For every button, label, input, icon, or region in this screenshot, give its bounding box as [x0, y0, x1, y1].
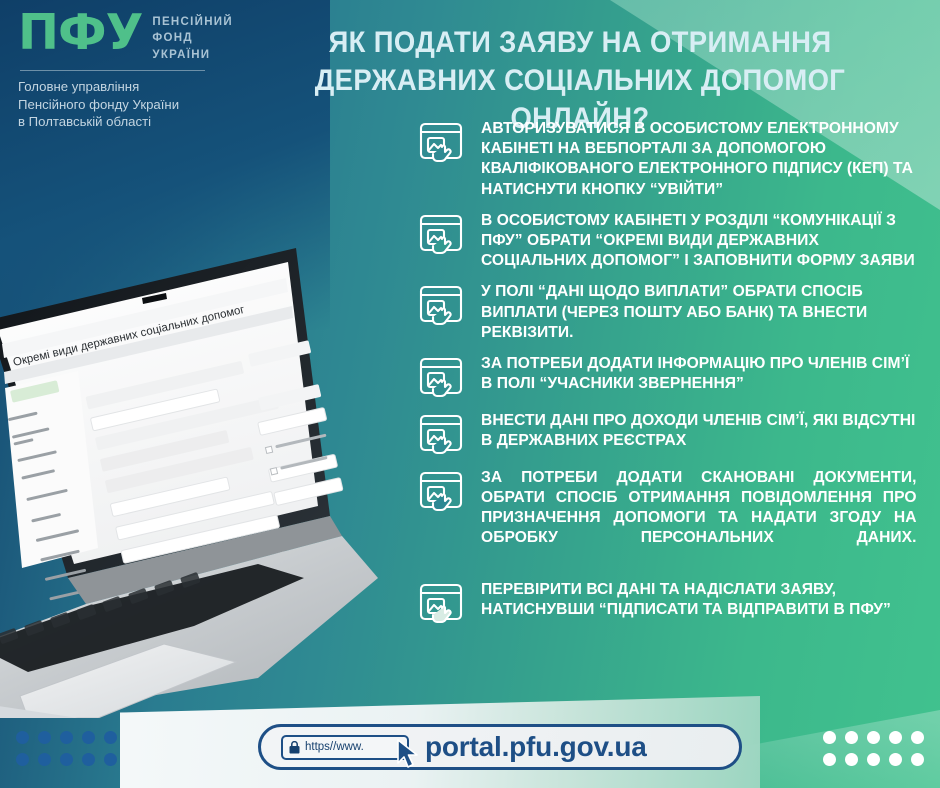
- step-text: ЗА ПОТРЕБИ ДОДАТИ ІНФОРМАЦІЮ ПРО ЧЛЕНІВ …: [481, 353, 917, 399]
- dot: [911, 753, 924, 766]
- dot: [845, 731, 858, 744]
- browser-click-icon: [418, 355, 468, 399]
- dot: [16, 731, 29, 744]
- dot: [911, 731, 924, 744]
- browser-click-icon: [418, 212, 468, 256]
- dot: [823, 731, 836, 744]
- browser-click-icon: [418, 283, 468, 327]
- pfu-logo-words: ПЕНСІЙНИЙ ФОНД УКРАЇНИ: [152, 10, 233, 63]
- portal-url-text[interactable]: portal.pfu.gov.ua: [425, 731, 647, 763]
- dot: [104, 753, 117, 766]
- step-text: АВТОРИЗУВАТИСЯ В ОСОБИСТОМУ ЕЛЕКТРОННОМУ…: [481, 118, 917, 199]
- dot: [823, 753, 836, 766]
- brand-divider: [20, 70, 205, 71]
- dot: [38, 753, 51, 766]
- browser-click-icon: [418, 469, 468, 513]
- dot: [104, 731, 117, 744]
- list-item: ЗА ПОТРЕБИ ДОДАТИ ІНФОРМАЦІЮ ПРО ЧЛЕНІВ …: [418, 353, 930, 399]
- dot: [889, 753, 902, 766]
- brand-word-1: ПЕНСІЙНИЙ: [152, 14, 233, 30]
- browser-click-icon: [418, 412, 468, 456]
- dot: [889, 731, 902, 744]
- address-field-chip[interactable]: https//www.: [281, 735, 409, 760]
- browser-click-icon: [418, 120, 468, 164]
- dot: [38, 731, 51, 744]
- dot: [82, 753, 95, 766]
- browser-click-icon: [418, 581, 468, 625]
- dot: [60, 753, 73, 766]
- list-item: В ОСОБИСТОМУ КАБІНЕТІ У РОЗДІЛІ “КОМУНІК…: [418, 210, 930, 271]
- list-item: ПЕРЕВІРИТИ ВСІ ДАНІ ТА НАДІСЛАТИ ЗАЯВУ, …: [418, 579, 930, 625]
- brand-word-3: УКРАЇНИ: [152, 47, 233, 63]
- step-text: В ОСОБИСТОМУ КАБІНЕТІ У РОЗДІЛІ “КОМУНІК…: [481, 210, 917, 271]
- step-text: ПЕРЕВІРИТИ ВСІ ДАНІ ТА НАДІСЛАТИ ЗАЯВУ, …: [481, 579, 917, 625]
- dot: [867, 731, 880, 744]
- url-bar[interactable]: https//www. portal.pfu.gov.ua: [258, 724, 742, 770]
- step-text: ВНЕСТИ ДАНІ ПРО ДОХОДИ ЧЛЕНІВ СІМ’Ї, ЯКІ…: [481, 410, 917, 456]
- list-item: У ПОЛІ “ДАНІ ЩОДО ВИПЛАТИ” ОБРАТИ СПОСІБ…: [418, 281, 930, 342]
- lock-icon: [289, 741, 300, 754]
- decor-dots-right: [823, 731, 924, 766]
- laptop-illustration: Окремі види державних соціальних допомог: [0, 248, 378, 718]
- headline-line-1: ЯК ПОДАТИ ЗАЯВУ НА ОТРИМАННЯ: [329, 26, 832, 59]
- step-text: ЗА ПОТРЕБИ ДОДАТИ СКАНОВАНІ ДОКУМЕНТИ, О…: [481, 467, 917, 568]
- list-item: АВТОРИЗУВАТИСЯ В ОСОБИСТОМУ ЕЛЕКТРОННОМУ…: [418, 118, 930, 199]
- dot: [60, 731, 73, 744]
- steps-list: АВТОРИЗУВАТИСЯ В ОСОБИСТОМУ ЕЛЕКТРОННОМУ…: [418, 118, 930, 636]
- pfu-logo-mark: ПФУ: [18, 10, 142, 55]
- mouse-pointer-icon: [395, 739, 421, 774]
- dot: [16, 753, 29, 766]
- dot: [845, 753, 858, 766]
- infographic-poster: ПФУ ПЕНСІЙНИЙ ФОНД УКРАЇНИ Головне управ…: [0, 0, 940, 788]
- decor-dots-left: [16, 731, 117, 766]
- list-item: ЗА ПОТРЕБИ ДОДАТИ СКАНОВАНІ ДОКУМЕНТИ, О…: [418, 467, 930, 568]
- dot: [867, 753, 880, 766]
- step-text: У ПОЛІ “ДАНІ ЩОДО ВИПЛАТИ” ОБРАТИ СПОСІБ…: [481, 281, 917, 342]
- list-item: ВНЕСТИ ДАНІ ПРО ДОХОДИ ЧЛЕНІВ СІМ’Ї, ЯКІ…: [418, 410, 930, 456]
- dot: [82, 731, 95, 744]
- address-field-text: https//www.: [305, 741, 364, 753]
- brand-word-2: ФОНД: [152, 30, 233, 46]
